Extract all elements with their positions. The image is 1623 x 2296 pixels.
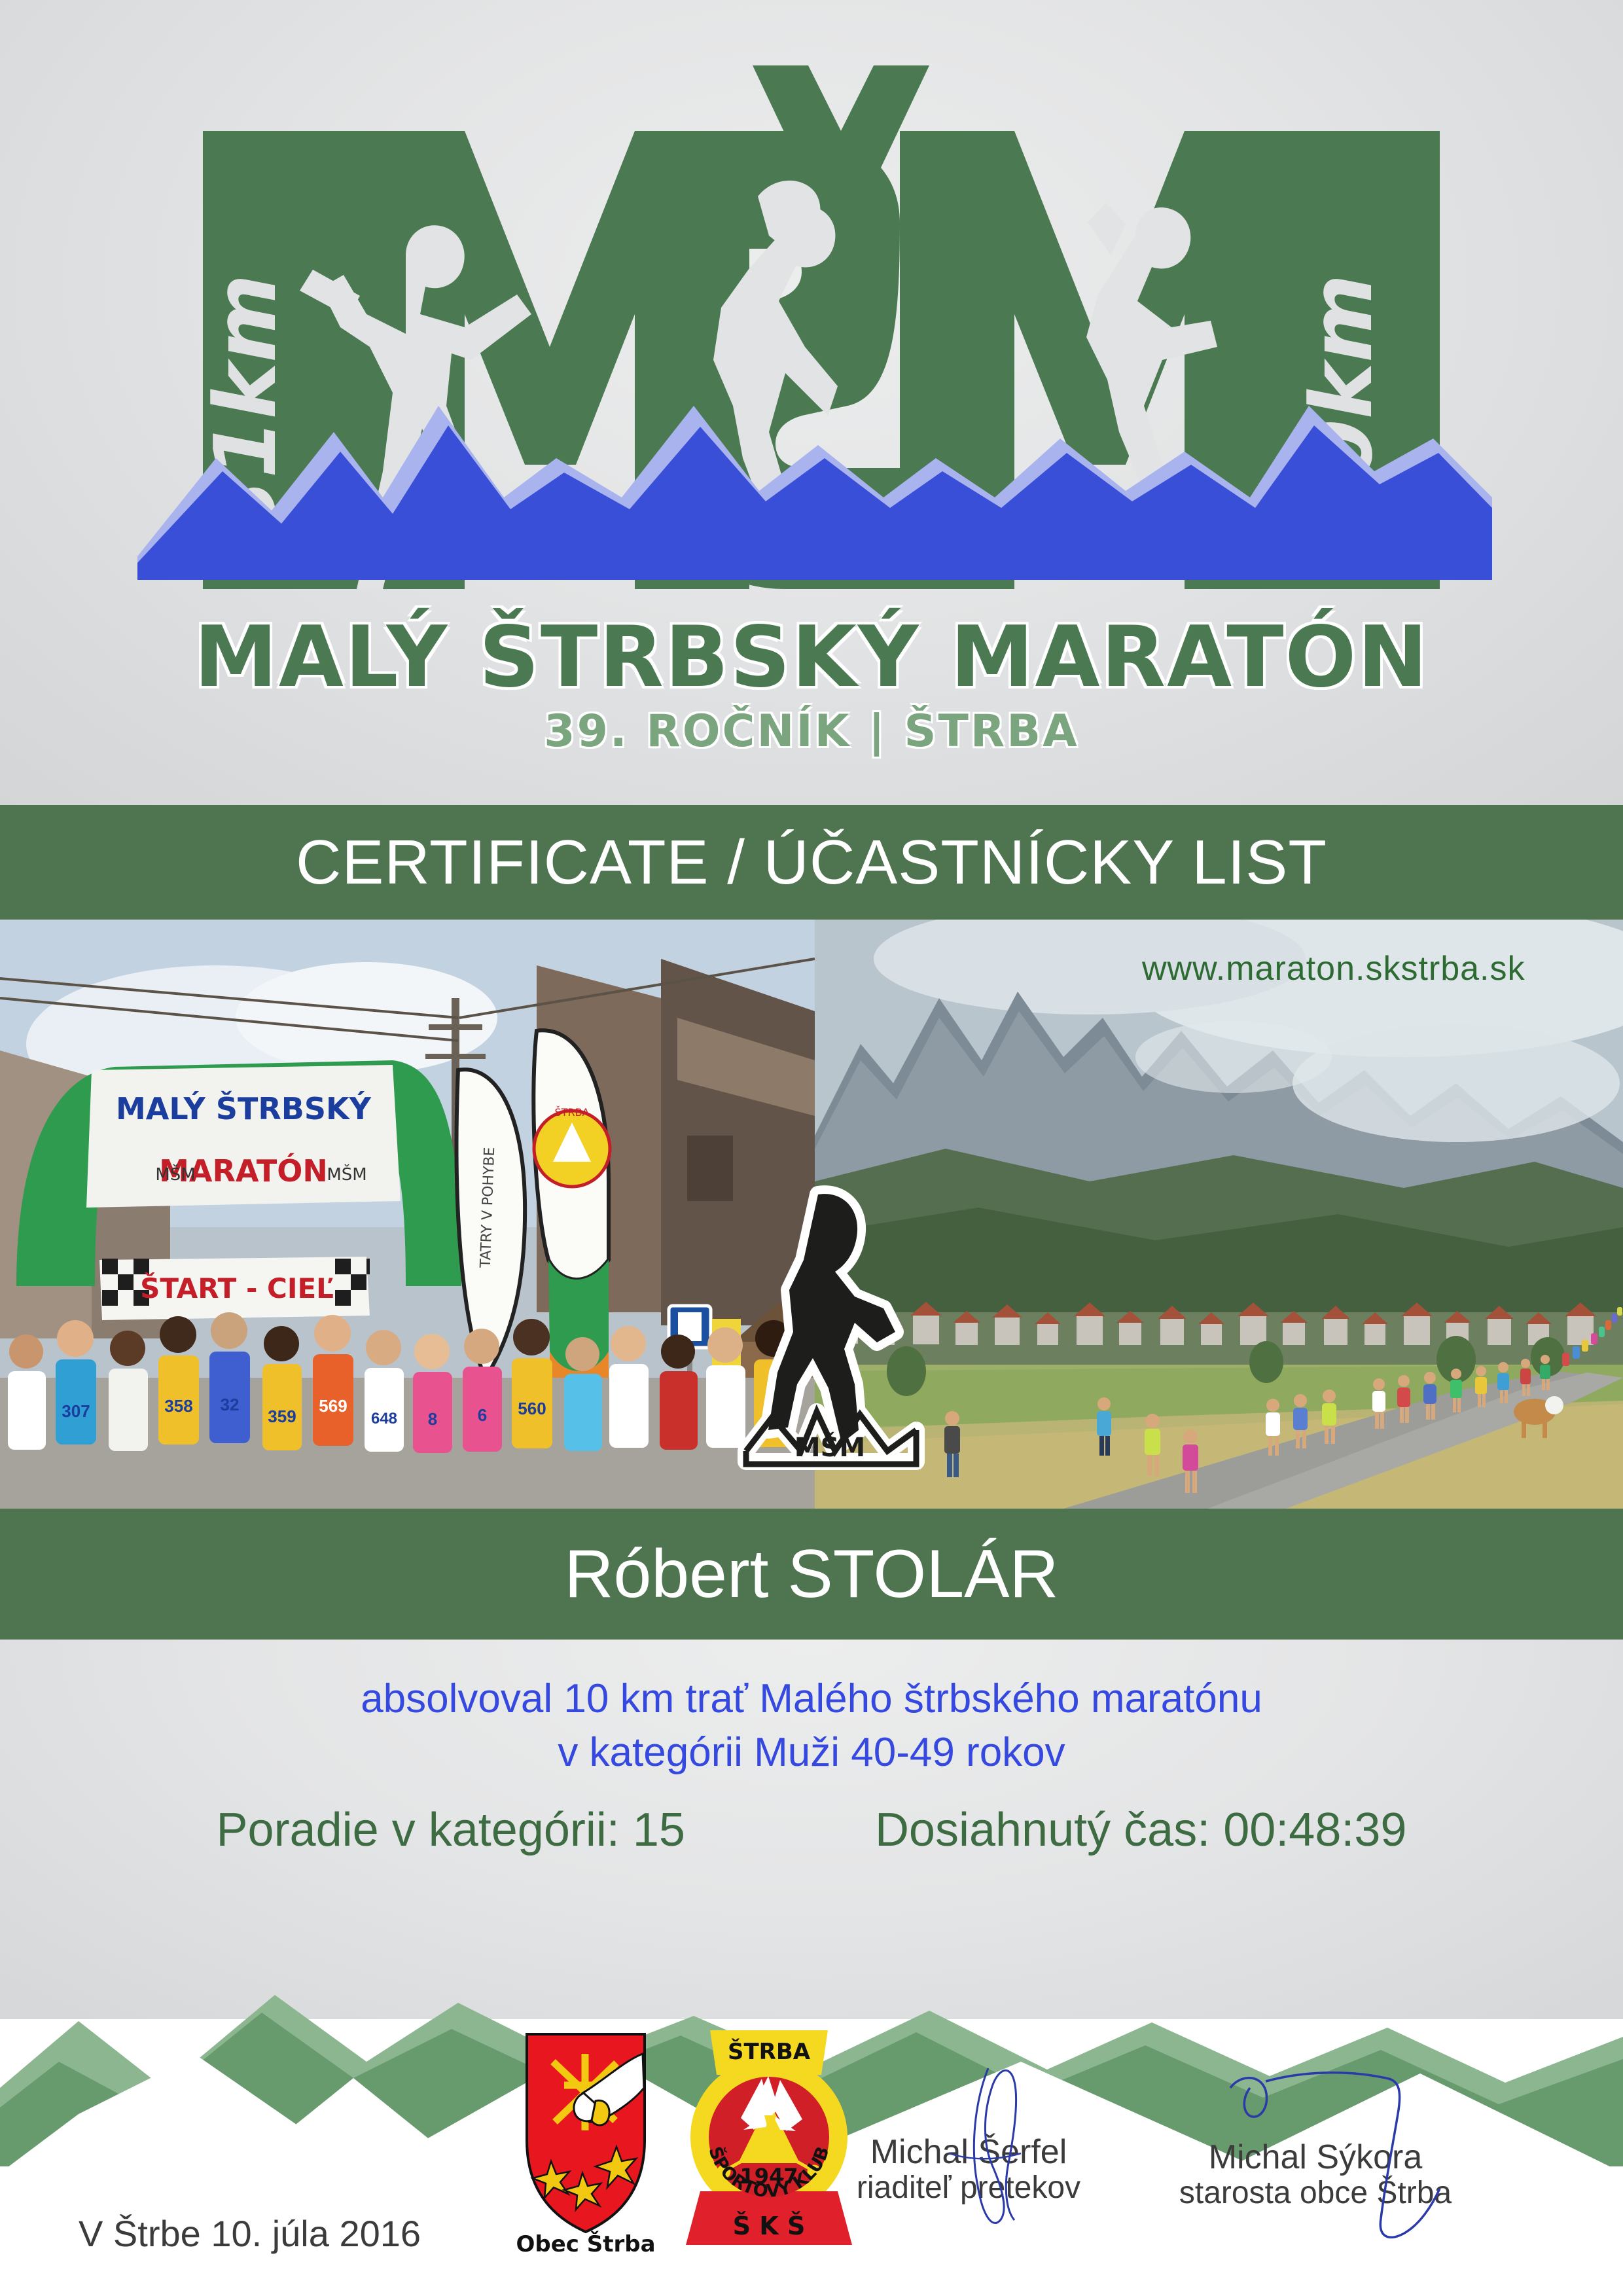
event-title: MALÝ ŠTRBSKÝ MARATÓN [0,609,1623,706]
bib-number: 6 [478,1405,487,1425]
results-row: Poradie v kategórii: 15 Dosiahnutý čas: … [0,1803,1623,1857]
bib-number: 359 [268,1407,296,1426]
msm-runner-emblem: MŠM [720,1168,942,1482]
mayor-role: starosta obce Štrba [1171,2176,1459,2211]
bib-number: 569 [319,1396,347,1416]
arch-title-line1: MALÝ ŠTRBSKÝ [116,1090,372,1126]
event-subtitle: 39. ROČNÍK | ŠTRBA [0,706,1623,757]
msm-logo-svg: 31km 10km [124,39,1499,589]
description-line-2: v kategórii Muži 40-49 rokov [0,1726,1623,1780]
certificate-title: CERTIFICATE / ÚČASTNÍCKY LIST [296,827,1327,899]
description-line-1: absolvoval 10 km trať Malého štrbského m… [0,1672,1623,1726]
bib-number: 8 [428,1409,437,1429]
director-role: riaditeľ pretekov [838,2170,1099,2206]
signature-block-mayor: Michal Sýkora starosta obce Štrba [1171,2139,1459,2211]
arch-logo-left: MŠM [155,1164,195,1185]
bib-number: 307 [62,1401,90,1421]
certificate-title-band: CERTIFICATE / ÚČASTNÍCKY LIST [0,805,1623,920]
achieved-time: Dosiahnutý čas: 00:48:39 [875,1803,1407,1857]
participant-name-band: Róbert STOLÁR [0,1509,1623,1640]
obec-strba-label: Obec Štrba [516,2231,655,2257]
participant-name: Róbert STOLÁR [564,1535,1058,1613]
arch-logo-right: MŠM [327,1164,366,1185]
emblem-text: MŠM [794,1431,865,1463]
website-url[interactable]: www.maraton.skstrba.sk [1142,949,1525,988]
obec-strba-crest: Obec Štrba [504,2022,668,2258]
description-block: absolvoval 10 km trať Malého štrbského m… [0,1672,1623,1780]
sks-club-emblem: ŠTRBA 1947 ŠPORTOVÝ KLUB Š K Š [681,2016,857,2258]
msm-runner-emblem-svg: MŠM [720,1168,942,1482]
obec-strba-crest-svg: Obec Štrba [504,2022,668,2258]
start-line-photo: MALÝ ŠTRBSKÝ MARATÓN MŠM MŠM ŠTART - CIE… [0,920,815,1509]
start-line-photo-svg: MALÝ ŠTRBSKÝ MARATÓN MŠM MŠM ŠTART - CIE… [0,920,815,1509]
sks-top-text: ŠTRBA [728,2038,811,2065]
bib-number: 648 [371,1410,397,1427]
bib-number: 32 [221,1395,240,1414]
sks-club-emblem-svg: ŠTRBA 1947 ŠPORTOVÝ KLUB Š K Š [681,2016,857,2258]
msm-logo: 31km 10km [0,39,1623,589]
mayor-name: Michal Sýkora [1171,2139,1459,2176]
sks-banner-text: Š K Š [733,2212,806,2240]
director-name: Michal Šerfel [838,2134,1099,2170]
arch-banner-text: ŠTART - CIEĽ [140,1272,334,1304]
photo-band: MALÝ ŠTRBSKÝ MARATÓN MŠM MŠM ŠTART - CIE… [0,920,1623,1509]
certificate-body: absolvoval 10 km trať Malého štrbského m… [0,1640,1623,2019]
logo-header-area: 31km 10km [0,0,1623,805]
flag-sks-label: ŠTRBA [555,1106,590,1119]
issue-date: V Štrbe 10. júla 2016 [79,2212,421,2255]
bib-number: 358 [164,1396,192,1416]
signature-block-director: Michal Šerfel riaditeľ pretekov [838,2134,1099,2206]
bib-number: 560 [518,1399,546,1418]
category-rank: Poradie v kategórii: 15 [217,1803,685,1857]
